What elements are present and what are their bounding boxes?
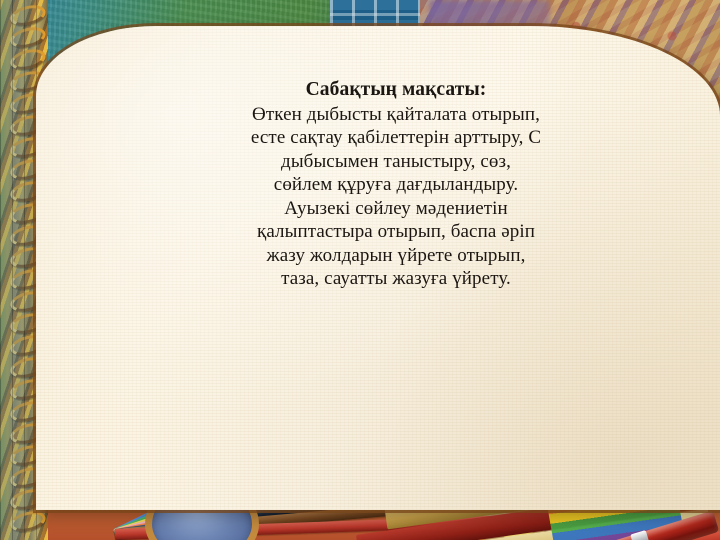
lesson-goal-text: Сабақтың мақсаты: Өткен дыбысты қайталат… [186,78,606,291]
lesson-goal-line-4: сөйлем құруға дағдыландыру. [186,173,606,197]
lesson-goal-title: Сабақтың мақсаты: [186,78,606,102]
lesson-goal-line-1: Өткен дыбысты қайталата отырып, [186,103,606,127]
lesson-goal-line-5: Ауызекі сөйлеу мәдениетін [186,197,606,221]
notebook-page: Сабақтың мақсаты: Өткен дыбысты қайталат… [36,26,720,510]
lesson-goal-line-6: қалыптастыра отырып, баспа әріп [186,220,606,244]
lesson-goal-line-8: таза, сауатты жазуға үйрету. [186,267,606,291]
lesson-goal-line-7: жазу жолдарын үйрете отырып, [186,244,606,268]
lesson-goal-line-3: дыбысымен таныстыру, сөз, [186,150,606,174]
lesson-goal-line-2: есте сақтау қабілеттерін арттыру, С [186,126,606,150]
presentation-slide: Сабақтың мақсаты: Өткен дыбысты қайталат… [0,0,720,540]
